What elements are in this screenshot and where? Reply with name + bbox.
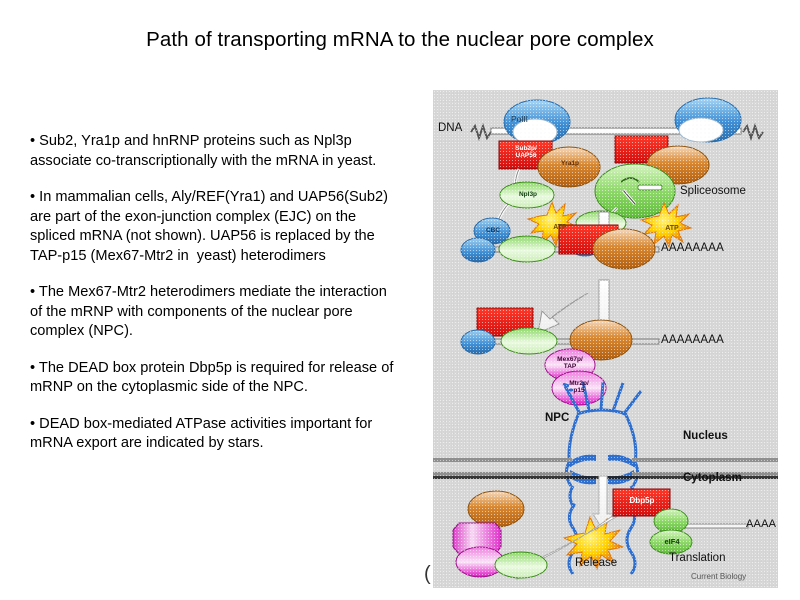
eif4-label: eIF4 bbox=[658, 538, 686, 545]
bullet-item: • Sub2, Yra1p and hnRNP proteins such as… bbox=[30, 132, 395, 171]
credit-label: Current Biology bbox=[691, 572, 746, 581]
sub2-uap56-label: Sub2p/ UAP56 bbox=[503, 145, 549, 159]
dbp5p-label: Dbp5p bbox=[621, 497, 663, 504]
slide-canvas: Path of transporting mRNA to the nuclear… bbox=[0, 0, 800, 600]
npl3p-label: Npl3p bbox=[509, 191, 547, 198]
mex67-tap-label: Mex67p/ TAP bbox=[547, 356, 593, 370]
polii-label: PolII bbox=[511, 116, 528, 123]
dna-label: DNA bbox=[438, 122, 462, 134]
bullet-item: • DEAD box-mediated ATPase activities im… bbox=[30, 415, 395, 454]
mrna-export-diagram: DNA PolII Sub2p/ UAP56 Yra1p Npl3p CBC A… bbox=[433, 90, 778, 588]
page-title: Path of transporting mRNA to the nuclear… bbox=[0, 28, 800, 52]
cbc-label: CBC bbox=[481, 227, 505, 234]
yra1p-label: Yra1p bbox=[551, 160, 589, 167]
released-components bbox=[453, 491, 547, 578]
stray-paren-mark: ( bbox=[424, 563, 431, 586]
bullet-item: • The DEAD box protein Dbp5p is required… bbox=[30, 359, 395, 398]
spliceosome-label: Spliceosome bbox=[680, 185, 746, 197]
polii-complex-2 bbox=[675, 98, 741, 142]
release-label: Release bbox=[575, 557, 617, 569]
polya-tail-2: AAAAAAAA bbox=[661, 334, 724, 346]
translation-group bbox=[650, 509, 748, 554]
translation-label: Translation bbox=[669, 552, 725, 564]
bullet-item: • The Mex67-Mtr2 heterodimers mediate th… bbox=[30, 283, 395, 342]
atp-label-1: ATP bbox=[547, 224, 573, 231]
polya-tail-3: AAAA bbox=[746, 518, 776, 530]
npc-label: NPC bbox=[545, 412, 569, 424]
cytoplasm-label: Cytoplasm bbox=[683, 472, 742, 484]
bullet-list: • Sub2, Yra1p and hnRNP proteins such as… bbox=[30, 132, 395, 471]
polya-tail-1: AAAAAAAA bbox=[661, 242, 724, 254]
diagram-artwork bbox=[433, 90, 778, 588]
nucleus-label: Nucleus bbox=[683, 430, 728, 442]
mtr2-p15-label: Mtr2p/ p15 bbox=[557, 380, 601, 394]
bullet-item: • In mammalian cells, Aly/REF(Yra1) and … bbox=[30, 188, 395, 266]
atp-label-2: ATP bbox=[659, 225, 685, 232]
